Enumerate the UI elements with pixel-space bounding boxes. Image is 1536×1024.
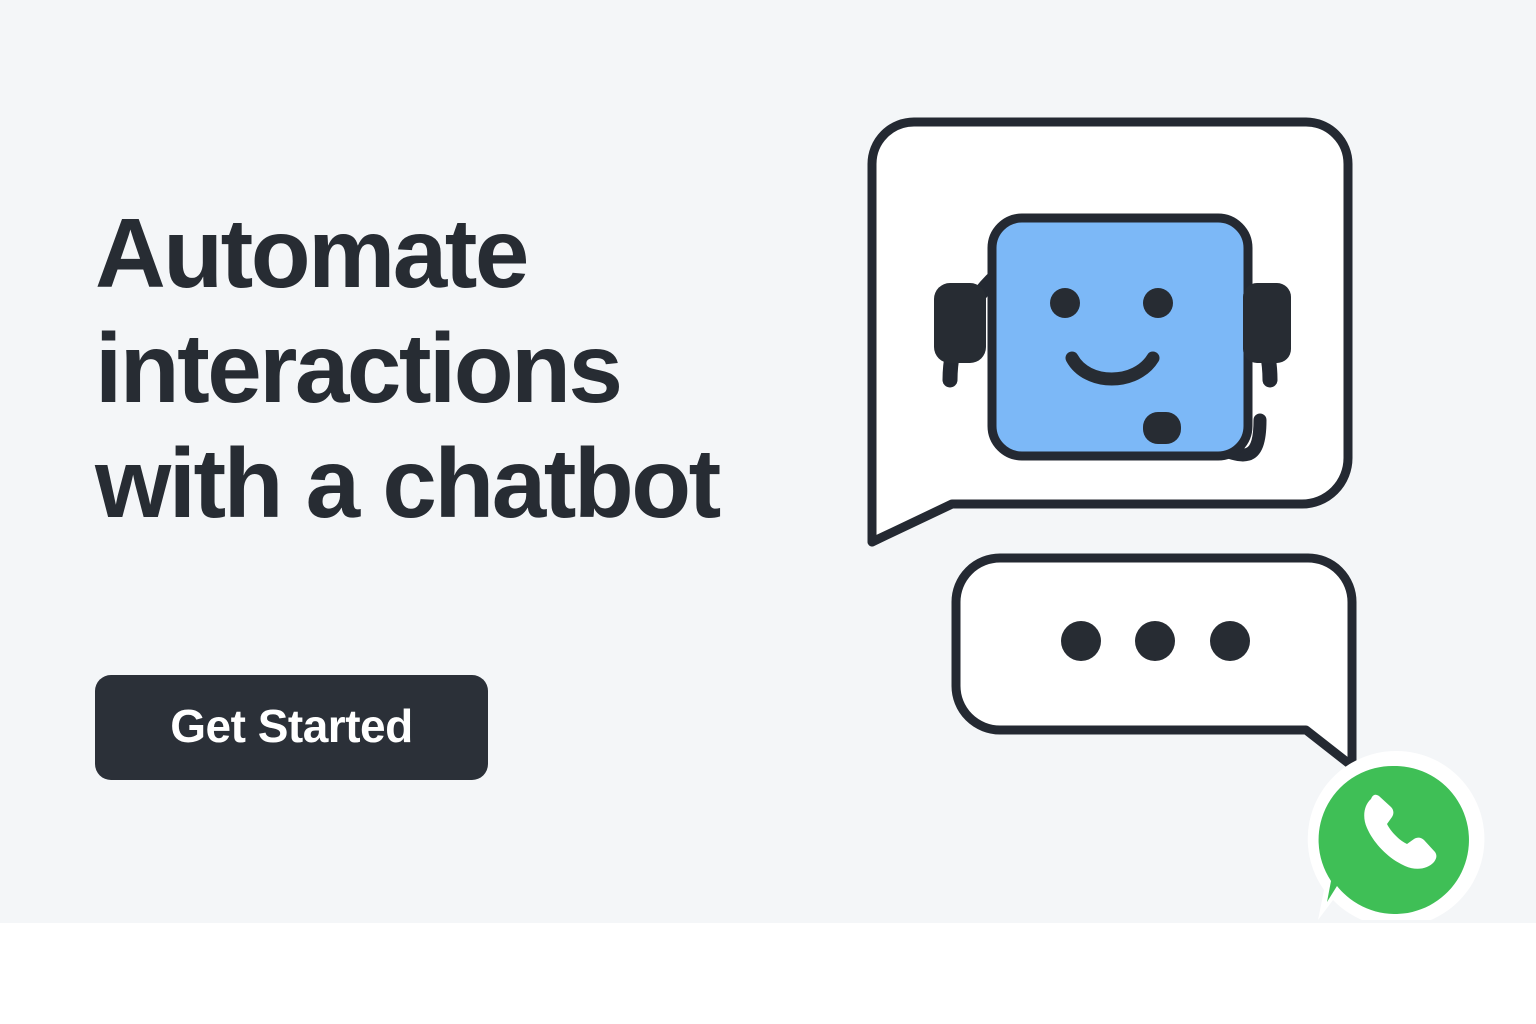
chatbot-illustration [840,90,1520,920]
bot-face-icon [992,218,1248,456]
bot-eye-right-icon [1143,288,1173,318]
page-title: Automate interactions with a chatbot [95,196,855,541]
get-started-button[interactable]: Get Started [95,675,488,780]
typing-dot [1061,621,1101,661]
typing-indicator-bubble [956,558,1352,766]
whatsapp-icon[interactable] [1308,751,1485,920]
promo-banner: Automate interactions with a chatbot Get… [0,0,1536,1024]
typing-dot [1135,621,1175,661]
typing-dot [1210,621,1250,661]
headset-mic-icon [1143,412,1181,444]
bot-eye-left-icon [1050,288,1080,318]
copy-block: Automate interactions with a chatbot [95,196,855,541]
